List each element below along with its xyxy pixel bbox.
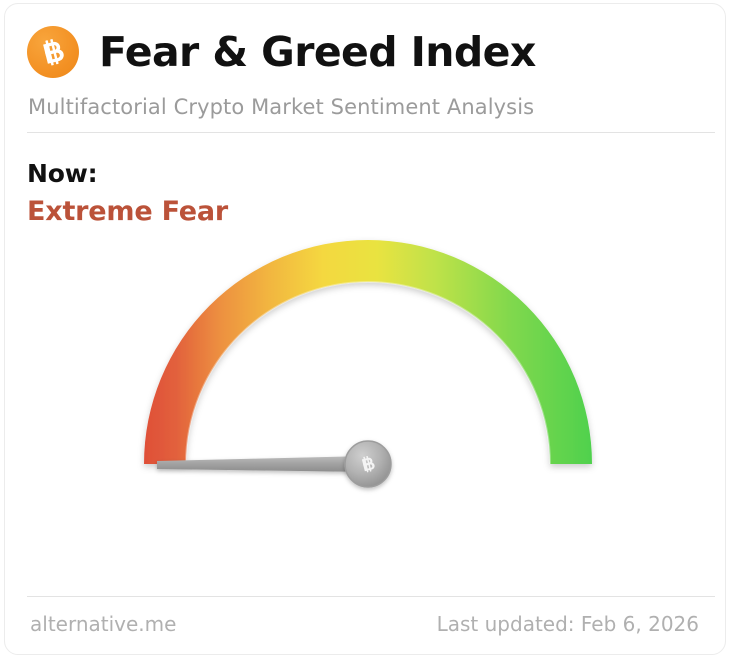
gauge-hub xyxy=(345,441,391,487)
now-label: Now: xyxy=(27,159,97,188)
gauge-svg xyxy=(5,229,726,579)
page-subtitle: Multifactorial Crypto Market Sentiment A… xyxy=(28,95,534,119)
header-divider xyxy=(27,132,715,133)
gauge-needle xyxy=(157,456,368,472)
gauge-arc xyxy=(144,240,592,464)
page-title: Fear & Greed Index xyxy=(99,32,536,73)
source-label[interactable]: alternative.me xyxy=(30,612,176,636)
bitcoin-logo-icon xyxy=(27,26,79,78)
card-header: Fear & Greed Index Multifactorial Crypto… xyxy=(23,21,713,126)
sentiment-value: Extreme Fear xyxy=(27,196,228,227)
brand-row: Fear & Greed Index xyxy=(23,21,713,83)
footer-divider xyxy=(27,596,715,597)
fear-greed-index-card: Fear & Greed Index Multifactorial Crypto… xyxy=(4,3,726,655)
gauge-chart: 9 xyxy=(5,229,726,579)
last-updated-label: Last updated: Feb 6, 2026 xyxy=(437,612,699,636)
